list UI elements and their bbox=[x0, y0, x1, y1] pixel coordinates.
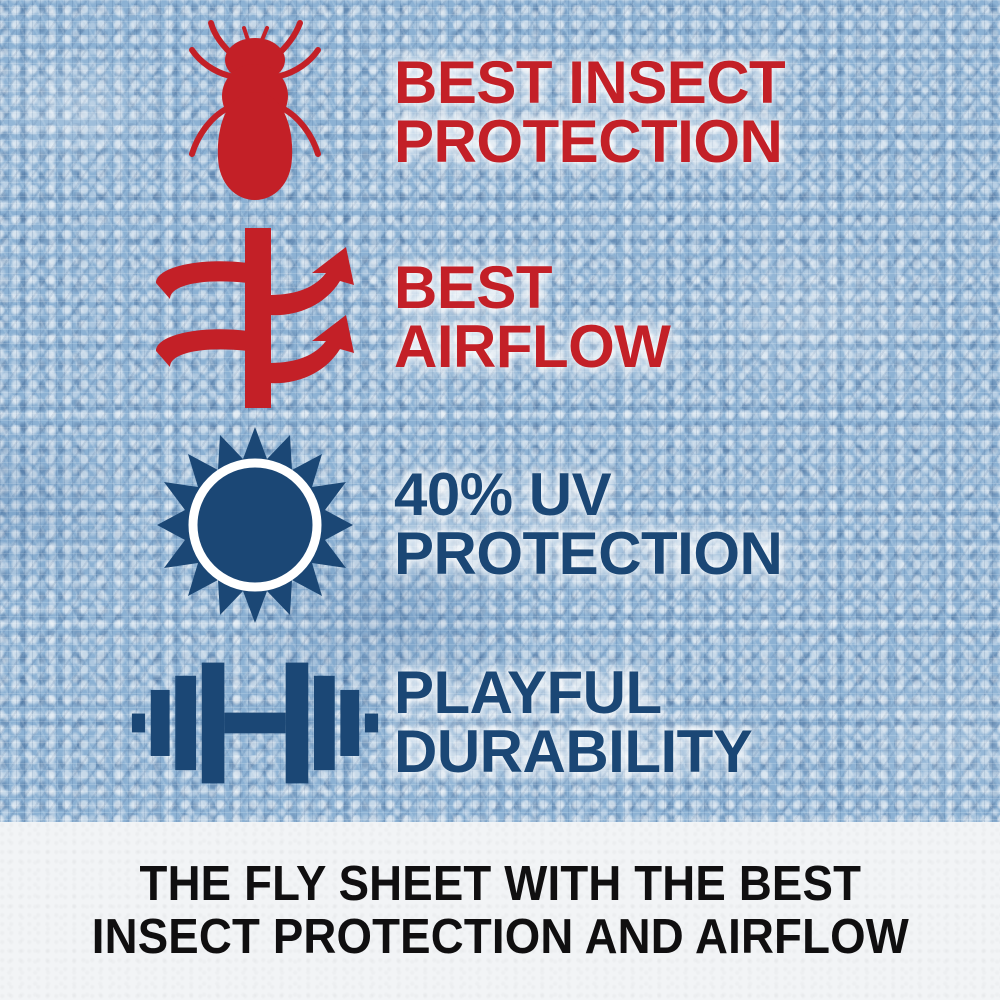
sun-uv-icon bbox=[155, 425, 355, 625]
airflow-arrows-icon bbox=[140, 223, 370, 413]
product-feature-infographic: BEST INSECT PROTECTION bbox=[0, 0, 1000, 1000]
dumbbell-icon bbox=[130, 640, 380, 805]
feature-row-uv-protection: 40% UV PROTECTION bbox=[130, 420, 990, 630]
feature-row-durability: PLAYFUL DURABILITY bbox=[130, 625, 990, 820]
insect-protection-text-container: BEST INSECT PROTECTION bbox=[380, 54, 990, 172]
feature-label-uv-protection: 40% UV PROTECTION bbox=[394, 466, 990, 584]
caption-bar: THE FLY SHEET WITH THE BEST INSECT PROTE… bbox=[0, 822, 1000, 1000]
caption-headline: THE FLY SHEET WITH THE BEST INSECT PROTE… bbox=[91, 858, 908, 964]
feature-label-durability: PLAYFUL DURABILITY bbox=[394, 664, 990, 782]
feature-row-insect-protection: BEST INSECT PROTECTION bbox=[130, 10, 990, 215]
fly-icon-container bbox=[130, 10, 380, 215]
airflow-text-container: BEST AIRFLOW bbox=[380, 259, 990, 377]
uv-protection-text-container: 40% UV PROTECTION bbox=[380, 466, 990, 584]
durability-text-container: PLAYFUL DURABILITY bbox=[380, 664, 990, 782]
dumbbell-icon-container bbox=[130, 620, 380, 825]
sun-icon-container bbox=[130, 423, 380, 628]
feature-label-airflow: BEST AIRFLOW bbox=[394, 259, 990, 377]
fly-icon bbox=[170, 18, 340, 208]
feature-row-airflow: BEST AIRFLOW bbox=[130, 215, 990, 420]
airflow-icon-container bbox=[130, 215, 380, 420]
feature-label-insect-protection: BEST INSECT PROTECTION bbox=[394, 54, 990, 172]
